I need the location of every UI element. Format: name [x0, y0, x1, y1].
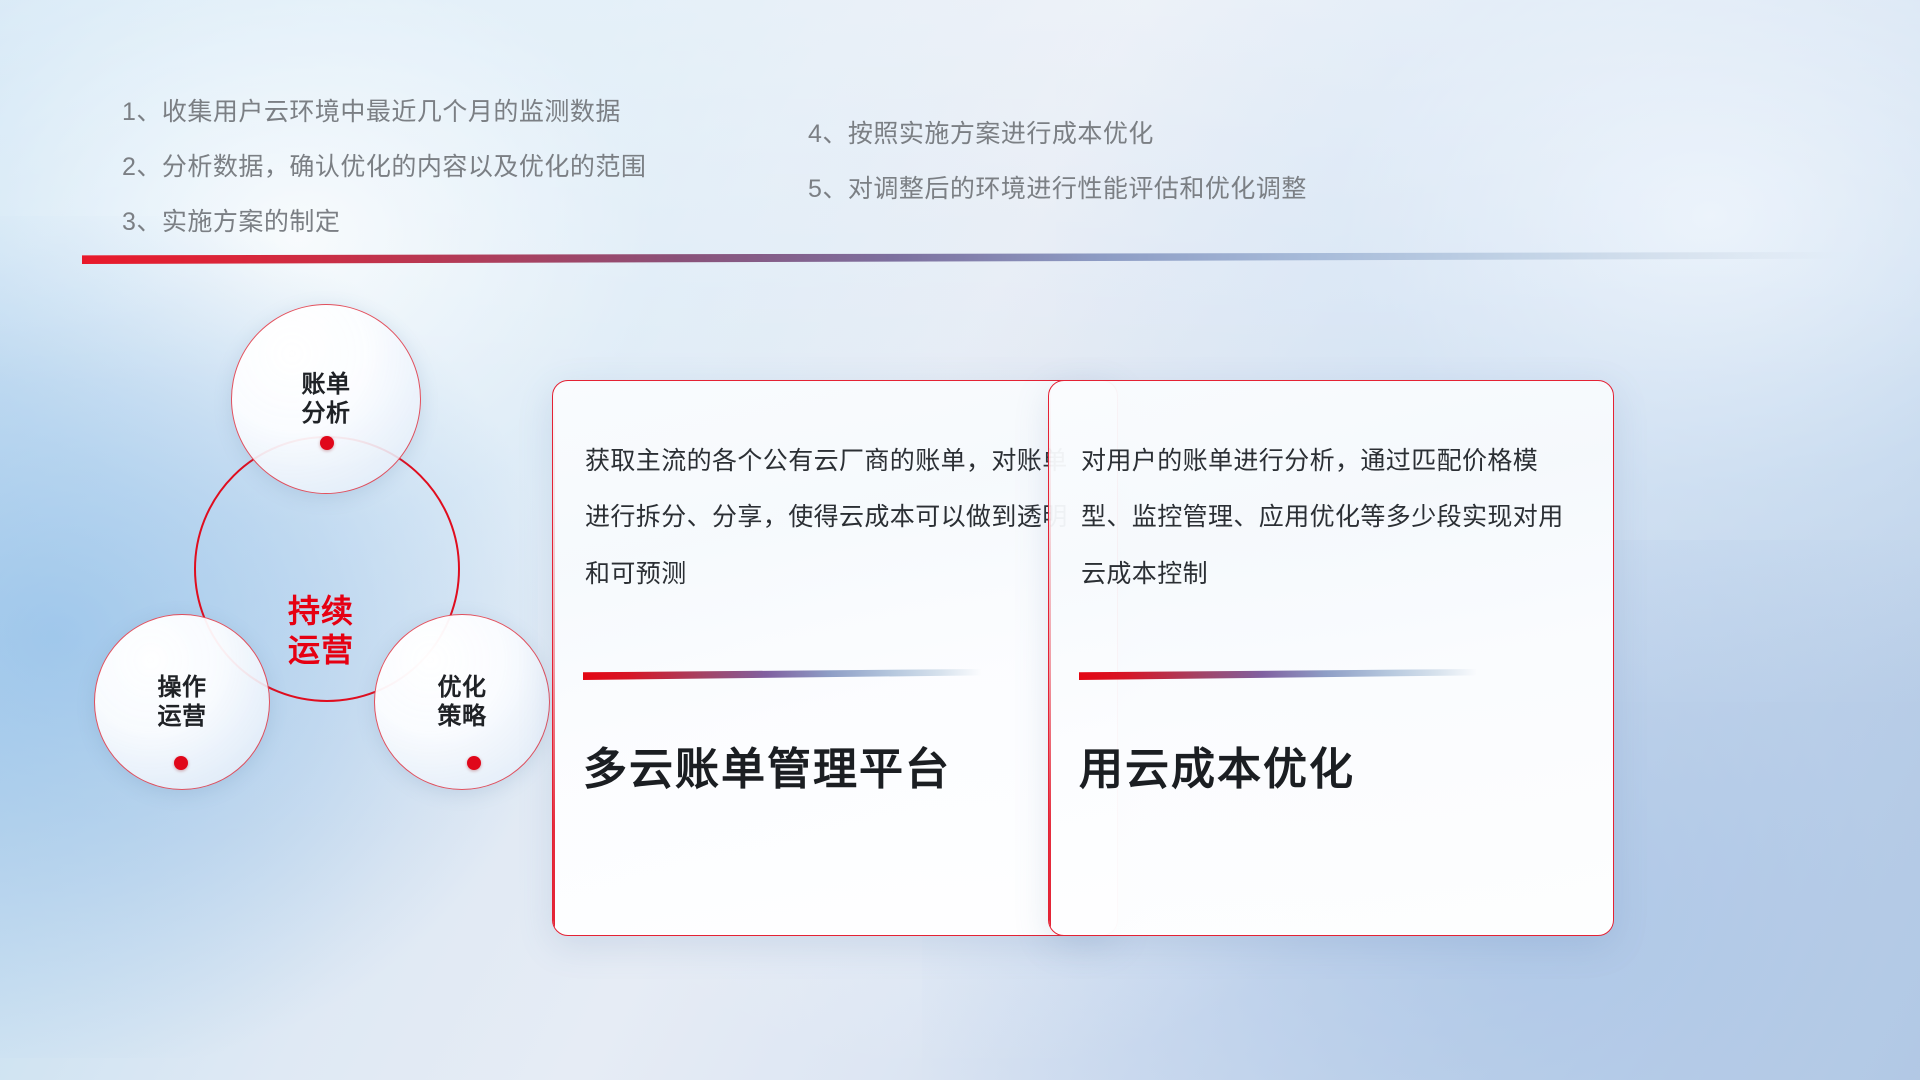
- card-divider: [1079, 669, 1477, 680]
- card-divider: [583, 669, 981, 680]
- diagram-node-dot-top: [320, 436, 334, 450]
- continuous-operations-diagram: 持续 运营 账单 分析 操作 运营 优化 策略: [86, 296, 556, 776]
- bubble-label-line-2: 策略: [438, 703, 487, 730]
- diagram-bubble-bill-analysis[interactable]: 账单 分析: [231, 304, 421, 494]
- diagram-bubble-optimization-strategy[interactable]: 优化 策略: [374, 614, 550, 790]
- diagram-node-dot-left: [174, 756, 188, 770]
- step-item: 3、实施方案的制定: [122, 210, 822, 235]
- steps-list-left: 1、收集用户云环境中最近几个月的监测数据 2、分析数据，确认优化的内容以及优化的…: [122, 100, 822, 265]
- step-item: 5、对调整后的环境进行性能评估和优化调整: [808, 177, 1468, 202]
- step-item: 4、按照实施方案进行成本优化: [808, 122, 1468, 147]
- card-title: 多云账单管理平台: [583, 733, 1093, 797]
- step-item: 1、收集用户云环境中最近几个月的监测数据: [122, 100, 822, 125]
- bubble-label-line-2: 运营: [158, 703, 207, 730]
- step-item: 2、分析数据，确认优化的内容以及优化的范围: [122, 155, 822, 180]
- divider-gradient-bar: [82, 252, 1842, 264]
- card-divider-gradient-bar: [1079, 669, 1477, 680]
- card-title: 用云成本优化: [1079, 733, 1589, 797]
- section-divider: [82, 252, 1842, 264]
- slide-content: 1、收集用户云环境中最近几个月的监测数据 2、分析数据，确认优化的内容以及优化的…: [0, 0, 1920, 1080]
- steps-list-right: 4、按照实施方案进行成本优化 5、对调整后的环境进行性能评估和优化调整: [808, 122, 1468, 232]
- diagram-node-dot-right: [467, 756, 481, 770]
- feature-card-cloud-cost-optimization[interactable]: 对用户的账单进行分析，通过匹配价格模型、监控管理、应用优化等多少段实现对用云成本…: [1048, 380, 1614, 936]
- feature-card-multicloud-billing[interactable]: 获取主流的各个公有云厂商的账单，对账单进行拆分、分享，使得云成本可以做到透明和可…: [552, 380, 1118, 936]
- card-body-text: 获取主流的各个公有云厂商的账单，对账单进行拆分、分享，使得云成本可以做到透明和可…: [585, 433, 1089, 602]
- bubble-label-line-1: 账单: [302, 371, 351, 398]
- bubble-label-line-2: 分析: [302, 400, 351, 427]
- card-body-text: 对用户的账单进行分析，通过匹配价格模型、监控管理、应用优化等多少段实现对用云成本…: [1081, 433, 1585, 602]
- bubble-label-line-1: 优化: [438, 674, 487, 701]
- bubble-label-line-1: 操作: [158, 674, 207, 701]
- card-divider-gradient-bar: [583, 669, 981, 680]
